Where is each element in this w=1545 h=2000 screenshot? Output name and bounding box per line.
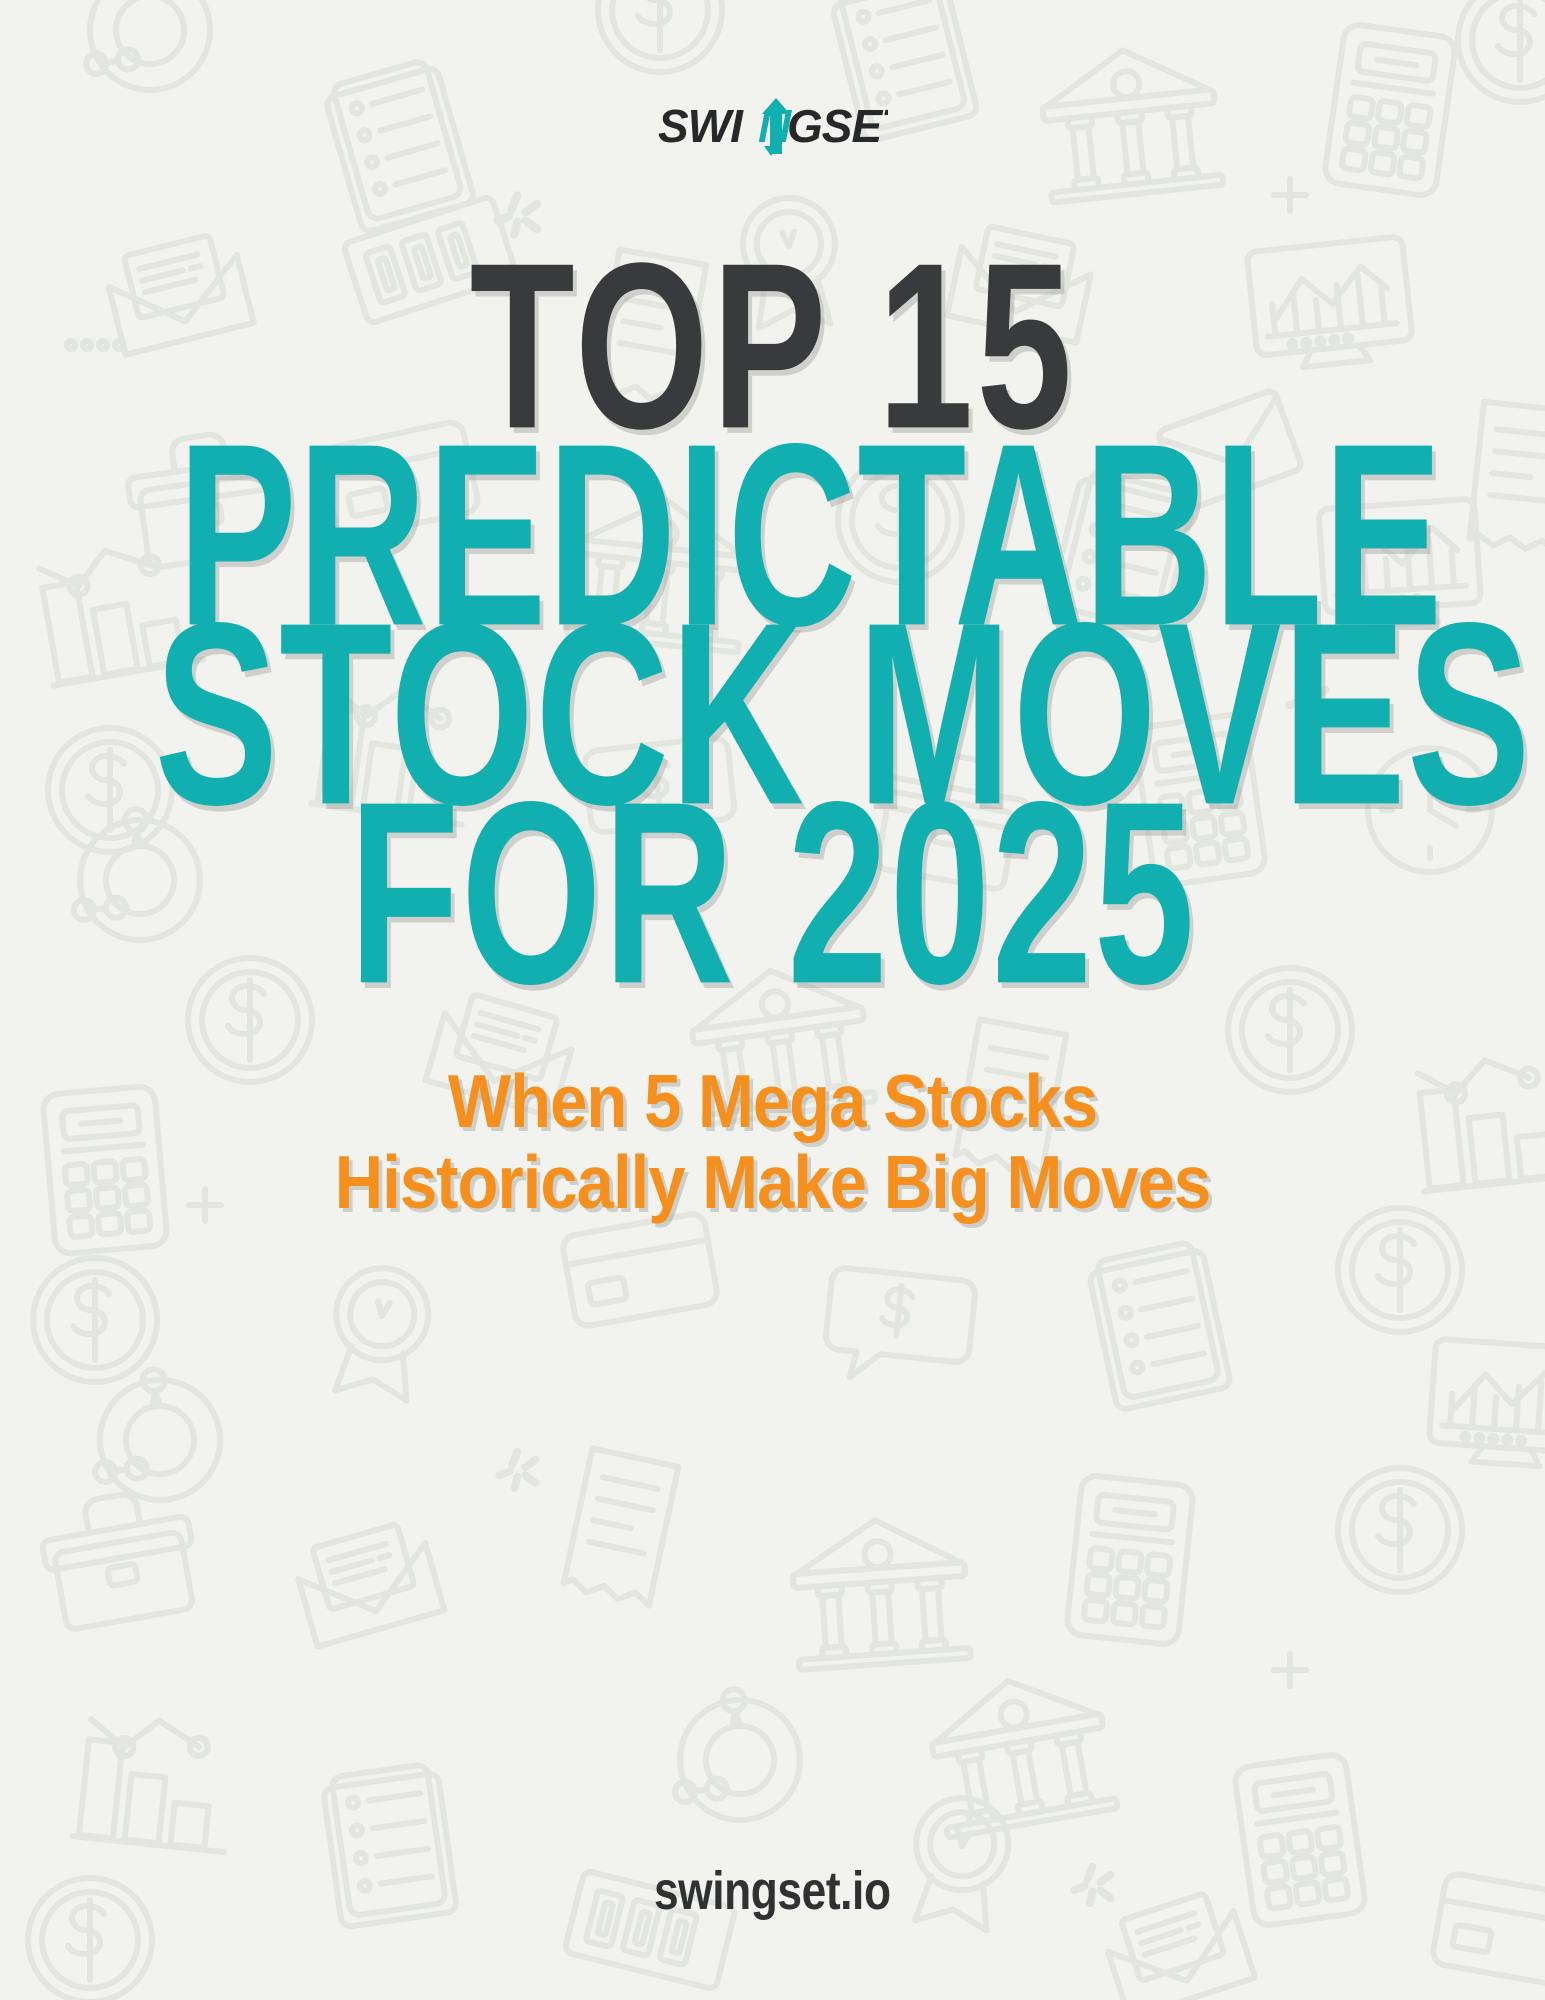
footer-website-url[interactable]: swingset.io <box>654 1860 891 1922</box>
subtitle-block: When 5 Mega Stocks Historically Make Big… <box>0 1062 1545 1223</box>
logo-text-gset: GSET <box>787 100 888 152</box>
poster-page: SWI N GSET TOP 15 PREDICTABLE STOCK MOVE… <box>0 0 1545 2000</box>
subtitle-line-1: When 5 Mega Stocks <box>54 1061 1491 1145</box>
headline-block: TOP 15 PREDICTABLE STOCK MOVES FOR 2025 <box>0 246 1545 998</box>
logo-text-swi: SWI <box>658 100 744 152</box>
footer: swingset.io <box>0 1860 1545 1922</box>
swingset-logo-mark: SWI N GSET <box>658 96 888 158</box>
subtitle-line-2: Historically Make Big Moves <box>54 1141 1491 1225</box>
headline-line-4: FOR 2025 <box>170 777 1375 1011</box>
brand-logo[interactable]: SWI N GSET <box>658 96 888 158</box>
